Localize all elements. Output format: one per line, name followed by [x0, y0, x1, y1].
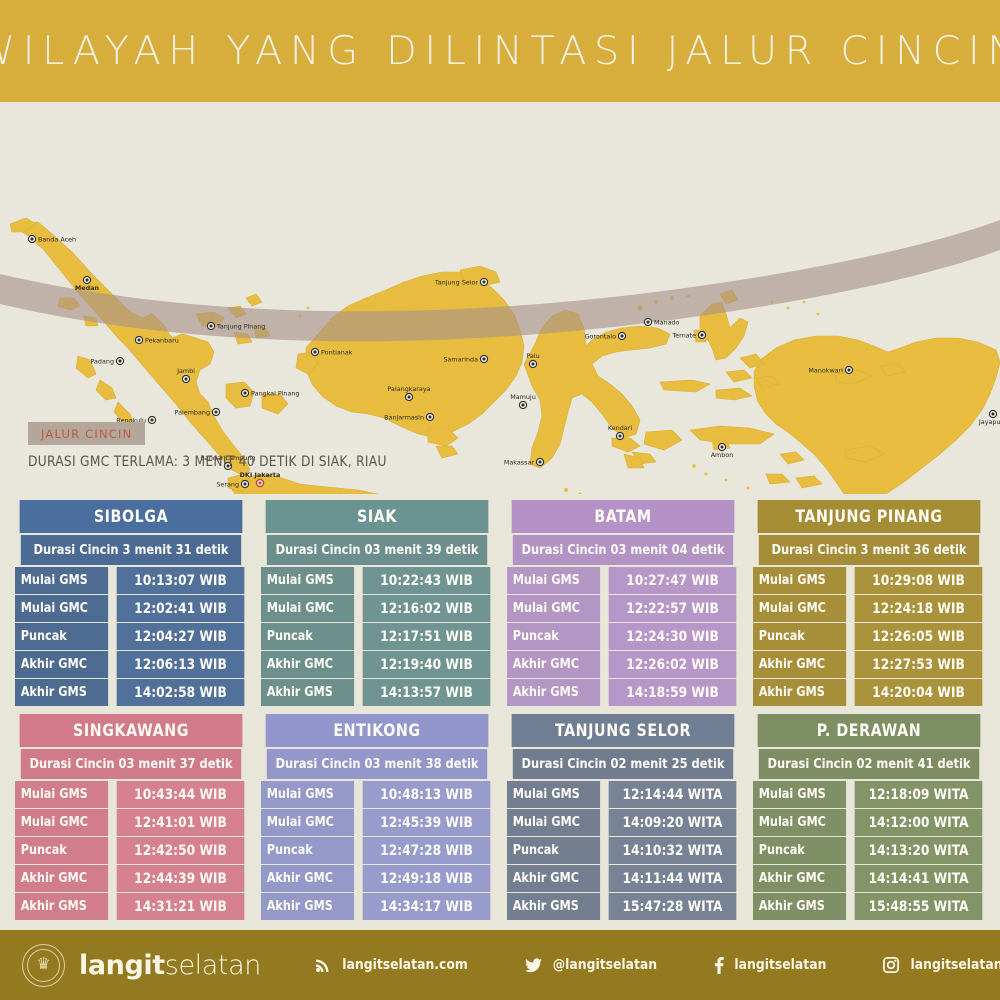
card-table: Mulai GMS10:13:07 WIBMulai GMC12:02:41 W… — [15, 567, 247, 706]
row-label: Akhir GMS — [507, 893, 600, 920]
table-row: Mulai GMC12:22:57 WIB — [507, 595, 739, 622]
social-link-rss[interactable]: langitselatan.com — [315, 957, 471, 973]
row-value: 12:17:51 WIB — [363, 623, 491, 650]
card-table: Mulai GMS10:22:43 WIBMulai GMC12:16:02 W… — [261, 567, 493, 706]
city-card-tanjung-selor[interactable]: TANJUNG SELORDurasi Cincin 02 menit 25 d… — [507, 714, 739, 920]
row-label: Puncak — [753, 623, 846, 650]
city-label: Banjarmasin — [384, 413, 424, 421]
city-card-entikong[interactable]: ENTIKONGDurasi Cincin 03 menit 38 detikM… — [261, 714, 493, 920]
card-title: TANJUNG PINANG — [758, 500, 981, 533]
row-label: Mulai GMS — [261, 781, 354, 808]
table-row: Mulai GMC12:02:41 WIB — [15, 595, 247, 622]
row-value: 12:27:53 WIB — [855, 651, 983, 678]
table-row: Puncak12:17:51 WIB — [261, 623, 493, 650]
social-label: langitselatan — [734, 957, 826, 973]
city-card-batam[interactable]: BATAMDurasi Cincin 03 menit 04 detikMula… — [507, 500, 739, 706]
row-label: Akhir GMS — [261, 893, 354, 920]
card-title: ENTIKONG — [266, 714, 489, 747]
city-card-singkawang[interactable]: SINGKAWANGDurasi Cincin 03 menit 37 deti… — [15, 714, 247, 920]
row-label: Puncak — [15, 837, 108, 864]
city-label: Medan — [75, 284, 100, 292]
row-label: Puncak — [753, 837, 846, 864]
land-shapes — [10, 218, 1000, 494]
card-table: Mulai GMS12:18:09 WITAMulai GMC14:12:00 … — [753, 781, 985, 920]
table-row: Akhir GMS14:31:21 WIB — [15, 893, 247, 920]
city-label: Ambon — [711, 451, 734, 459]
eclipse-path-band — [0, 220, 1000, 341]
table-row: Mulai GMS10:13:07 WIB — [15, 567, 247, 594]
row-label: Akhir GMS — [753, 893, 846, 920]
city-label: Pangkal Pinang — [251, 389, 299, 397]
table-row: Mulai GMC12:41:01 WIB — [15, 809, 247, 836]
row-value: 14:11:44 WITA — [609, 865, 737, 892]
city-marker: Jayapura — [978, 410, 1000, 426]
table-row: Puncak12:47:28 WIB — [261, 837, 493, 864]
city-label: Makassar — [504, 458, 535, 466]
table-row: Puncak12:42:50 WIB — [15, 837, 247, 864]
table-row: Akhir GMC12:44:39 WIB — [15, 865, 247, 892]
table-row: Akhir GMS15:48:55 WITA — [753, 893, 985, 920]
row-label: Mulai GMC — [753, 809, 846, 836]
row-value: 12:49:18 WIB — [363, 865, 491, 892]
row-label: Mulai GMC — [15, 809, 108, 836]
city-label: Tanjung Pinang — [216, 322, 265, 330]
row-value: 14:10:32 WITA — [609, 837, 737, 864]
table-row: Akhir GMC12:26:02 WIB — [507, 651, 739, 678]
city-label: Manokwari — [808, 366, 843, 374]
card-title: SINGKAWANG — [20, 714, 243, 747]
city-label: Mamuju — [510, 393, 536, 401]
table-row: Puncak12:24:30 WIB — [507, 623, 739, 650]
city-label: Palu — [526, 352, 539, 360]
page-title: WILAYAH YANG DILINTASI JALUR CINCIN — [0, 29, 1000, 74]
city-label: Ternate — [671, 331, 696, 339]
row-value: 12:19:40 WIB — [363, 651, 491, 678]
indonesia-map: Banda AcehMedanPekanbaruPadangJambiBengk… — [0, 102, 1000, 494]
row-value: 12:47:28 WIB — [363, 837, 491, 864]
city-card-tanjung-pinang[interactable]: TANJUNG PINANGDurasi Cincin 3 menit 36 d… — [753, 500, 985, 706]
card-table: Mulai GMS10:43:44 WIBMulai GMC12:41:01 W… — [15, 781, 247, 920]
city-label: Serang — [216, 480, 239, 488]
table-row: Puncak12:26:05 WIB — [753, 623, 985, 650]
table-row: Akhir GMS14:13:57 WIB — [261, 679, 493, 706]
row-value: 10:22:43 WIB — [363, 567, 491, 594]
row-label: Akhir GMS — [15, 679, 108, 706]
row-value: 10:13:07 WIB — [117, 567, 245, 594]
row-label: Puncak — [15, 623, 108, 650]
row-value: 12:24:30 WIB — [609, 623, 737, 650]
table-row: Akhir GMC12:27:53 WIB — [753, 651, 985, 678]
social-label: langitselatanmedia — [910, 957, 1000, 973]
social-label: @langitselatan — [553, 957, 657, 973]
table-row: Akhir GMS15:47:28 WITA — [507, 893, 739, 920]
table-row: Akhir GMS14:18:59 WIB — [507, 679, 739, 706]
instagram-icon — [883, 957, 899, 973]
langitselatan-logo-icon: ♛ — [22, 944, 65, 987]
facebook-icon — [714, 957, 724, 974]
card-title: SIAK — [266, 500, 489, 533]
city-label: Samarinda — [443, 355, 478, 363]
table-row: Akhir GMS14:02:58 WIB — [15, 679, 247, 706]
city-marker: Manado — [644, 318, 679, 326]
row-value: 14:14:41 WITA — [855, 865, 983, 892]
row-label: Akhir GMS — [15, 893, 108, 920]
table-row: Puncak12:04:27 WIB — [15, 623, 247, 650]
table-row: Mulai GMS10:22:43 WIB — [261, 567, 493, 594]
card-table: Mulai GMS10:27:47 WIBMulai GMC12:22:57 W… — [507, 567, 739, 706]
city-label: Jambi — [176, 367, 195, 375]
table-row: Mulai GMC14:09:20 WITA — [507, 809, 739, 836]
row-value: 12:44:39 WIB — [117, 865, 245, 892]
row-label: Mulai GMS — [507, 567, 600, 594]
card-duration: Durasi Cincin 3 menit 31 detik — [21, 535, 241, 565]
city-marker: Padang — [90, 357, 123, 365]
card-title: TANJUNG SELOR — [512, 714, 735, 747]
table-row: Akhir GMC12:19:40 WIB — [261, 651, 493, 678]
row-value: 10:27:47 WIB — [609, 567, 737, 594]
row-value: 10:43:44 WIB — [117, 781, 245, 808]
city-marker: Makassar — [504, 458, 544, 466]
city-marker: Kendari — [608, 424, 632, 440]
row-value: 14:13:20 WITA — [855, 837, 983, 864]
table-row: Akhir GMC12:49:18 WIB — [261, 865, 493, 892]
card-duration: Durasi Cincin 02 menit 41 detik — [759, 749, 979, 779]
infographic-page: WILAYAH YANG DILINTASI JALUR CINCIN — [0, 0, 1000, 1000]
card-duration: Durasi Cincin 3 menit 36 detik — [759, 535, 979, 565]
row-value: 14:12:00 WITA — [855, 809, 983, 836]
city-card-p-derawan[interactable]: P. DERAWANDurasi Cincin 02 menit 41 deti… — [753, 714, 985, 920]
table-row: Akhir GMS14:34:17 WIB — [261, 893, 493, 920]
table-row: Mulai GMS10:48:13 WIB — [261, 781, 493, 808]
city-card-sibolga[interactable]: SIBOLGADurasi Cincin 3 menit 31 detikMul… — [15, 500, 247, 706]
row-value: 14:02:58 WIB — [117, 679, 245, 706]
city-label: Padang — [90, 357, 114, 365]
table-row: Mulai GMC12:16:02 WIB — [261, 595, 493, 622]
city-label: Banda Aceh — [38, 235, 76, 243]
rss-icon — [315, 957, 331, 973]
card-table: Mulai GMS12:14:44 WITAMulai GMC14:09:20 … — [507, 781, 739, 920]
city-marker: Pontianak — [311, 348, 352, 356]
city-label: Gorontalo — [585, 332, 617, 340]
row-label: Puncak — [261, 623, 354, 650]
legend-jalur-cincin: JALUR CINCIN — [28, 422, 145, 445]
row-value: 12:24:18 WIB — [855, 595, 983, 622]
table-row: Puncak14:10:32 WITA — [507, 837, 739, 864]
row-label: Mulai GMS — [15, 567, 108, 594]
table-row: Mulai GMC12:24:18 WIB — [753, 595, 985, 622]
city-label: Tanjung Selor — [434, 278, 478, 286]
table-row: Mulai GMS10:29:08 WIB — [753, 567, 985, 594]
row-label: Puncak — [261, 837, 354, 864]
row-value: 14:31:21 WIB — [117, 893, 245, 920]
table-row: Mulai GMS10:43:44 WIB — [15, 781, 247, 808]
row-value: 12:42:50 WIB — [117, 837, 245, 864]
row-label: Akhir GMS — [753, 679, 846, 706]
row-value: 12:22:57 WIB — [609, 595, 737, 622]
row-label: Mulai GMC — [261, 595, 354, 622]
row-value: 12:02:41 WIB — [117, 595, 245, 622]
social-label: langitselatan.com — [342, 957, 467, 973]
city-label: Palembang — [175, 408, 211, 416]
table-row: Akhir GMC14:14:41 WITA — [753, 865, 985, 892]
city-label: Palangkaraya — [387, 385, 430, 393]
city-label: Jayapura — [978, 418, 1000, 426]
card-table: Mulai GMS10:29:08 WIBMulai GMC12:24:18 W… — [753, 567, 985, 706]
card-title: P. DERAWAN — [758, 714, 981, 747]
row-value: 12:06:13 WIB — [117, 651, 245, 678]
table-row: Akhir GMS14:20:04 WIB — [753, 679, 985, 706]
map-container: Banda AcehMedanPekanbaruPadangJambiBengk… — [0, 102, 1000, 494]
row-value: 15:47:28 WITA — [609, 893, 737, 920]
brand-light: selatan — [165, 950, 261, 981]
city-label: Pekanbaru — [145, 336, 179, 344]
city-marker: Tanjung Pinang — [207, 322, 265, 330]
card-title: BATAM — [512, 500, 735, 533]
row-label: Akhir GMC — [507, 865, 600, 892]
row-value: 10:48:13 WIB — [363, 781, 491, 808]
row-value: 14:18:59 WIB — [609, 679, 737, 706]
row-value: 12:18:09 WITA — [855, 781, 983, 808]
row-label: Mulai GMS — [261, 567, 354, 594]
social-link-facebook[interactable]: langitselatan — [714, 957, 829, 974]
row-label: Puncak — [507, 837, 600, 864]
row-label: Mulai GMS — [753, 567, 846, 594]
row-label: Akhir GMC — [753, 865, 846, 892]
row-value: 12:41:01 WIB — [117, 809, 245, 836]
table-row: Mulai GMS12:18:09 WITA — [753, 781, 985, 808]
footer-bar: ♛ langitselatan langitselatan.com@langit… — [0, 930, 1000, 1000]
map-subtitle: DURASI GMC TERLAMA: 3 MENIT 40 DETIK DI … — [28, 454, 387, 470]
brand-bold: langit — [79, 950, 165, 981]
city-label: Kendari — [608, 424, 632, 432]
city-label: Pontianak — [321, 348, 353, 356]
city-marker: Ternate — [671, 331, 705, 339]
city-marker: Gorontalo — [585, 332, 626, 340]
city-label: DKI Jakarta — [240, 471, 281, 479]
city-card-siak[interactable]: SIAKDurasi Cincin 03 menit 39 detikMulai… — [261, 500, 493, 706]
social-link-instagram[interactable]: langitselatanmedia — [883, 957, 1000, 973]
table-row: Mulai GMS12:14:44 WITA — [507, 781, 739, 808]
row-label: Mulai GMS — [753, 781, 846, 808]
city-cards-grid: SIBOLGADurasi Cincin 3 menit 31 detikMul… — [0, 500, 1000, 920]
row-value: 12:04:27 WIB — [117, 623, 245, 650]
title-bar: WILAYAH YANG DILINTASI JALUR CINCIN — [0, 0, 1000, 102]
row-label: Akhir GMS — [507, 679, 600, 706]
twitter-icon — [525, 958, 542, 973]
table-row: Akhir GMC12:06:13 WIB — [15, 651, 247, 678]
row-label: Mulai GMS — [507, 781, 600, 808]
row-label: Mulai GMC — [753, 595, 846, 622]
social-links: langitselatan.com@langitselatanlangitsel… — [261, 957, 1000, 974]
row-value: 12:26:05 WIB — [855, 623, 983, 650]
card-duration: Durasi Cincin 03 menit 38 detik — [267, 749, 487, 779]
city-marker: Mamuju — [510, 393, 536, 409]
row-label: Mulai GMC — [261, 809, 354, 836]
brand-wordmark: langitselatan — [79, 952, 261, 979]
row-label: Mulai GMC — [15, 595, 108, 622]
city-marker: Pangkal Pinang — [241, 389, 299, 397]
table-row: Mulai GMS10:27:47 WIB — [507, 567, 739, 594]
card-table: Mulai GMS10:48:13 WIBMulai GMC12:45:39 W… — [261, 781, 493, 920]
card-duration: Durasi Cincin 02 menit 25 detik — [513, 749, 733, 779]
row-value: 12:45:39 WIB — [363, 809, 491, 836]
row-value: 12:16:02 WIB — [363, 595, 491, 622]
table-row: Mulai GMC12:45:39 WIB — [261, 809, 493, 836]
row-value: 14:09:20 WITA — [609, 809, 737, 836]
row-label: Akhir GMC — [753, 651, 846, 678]
card-duration: Durasi Cincin 03 menit 39 detik — [267, 535, 487, 565]
row-label: Mulai GMC — [507, 595, 600, 622]
row-value: 14:13:57 WIB — [363, 679, 491, 706]
row-label: Mulai GMC — [507, 809, 600, 836]
row-label: Puncak — [507, 623, 600, 650]
table-row: Puncak14:13:20 WITA — [753, 837, 985, 864]
city-label: Manado — [654, 318, 679, 326]
row-value: 15:48:55 WITA — [855, 893, 983, 920]
social-link-twitter[interactable]: @langitselatan — [525, 957, 660, 973]
row-value: 12:14:44 WITA — [609, 781, 737, 808]
row-label: Akhir GMC — [507, 651, 600, 678]
card-duration: Durasi Cincin 03 menit 04 detik — [513, 535, 733, 565]
table-row: Mulai GMC14:12:00 WITA — [753, 809, 985, 836]
row-label: Akhir GMC — [15, 865, 108, 892]
row-value: 10:29:08 WIB — [855, 567, 983, 594]
table-row: Akhir GMC14:11:44 WITA — [507, 865, 739, 892]
card-title: SIBOLGA — [20, 500, 243, 533]
row-label: Akhir GMS — [261, 679, 354, 706]
card-duration: Durasi Cincin 03 menit 37 detik — [21, 749, 241, 779]
row-label: Akhir GMC — [15, 651, 108, 678]
row-label: Akhir GMC — [261, 651, 354, 678]
row-value: 14:34:17 WIB — [363, 893, 491, 920]
legend-label: JALUR CINCIN — [41, 427, 132, 441]
city-marker: Serang — [216, 480, 248, 488]
row-value: 12:26:02 WIB — [609, 651, 737, 678]
row-value: 14:20:04 WIB — [855, 679, 983, 706]
row-label: Mulai GMS — [15, 781, 108, 808]
row-label: Akhir GMC — [261, 865, 354, 892]
